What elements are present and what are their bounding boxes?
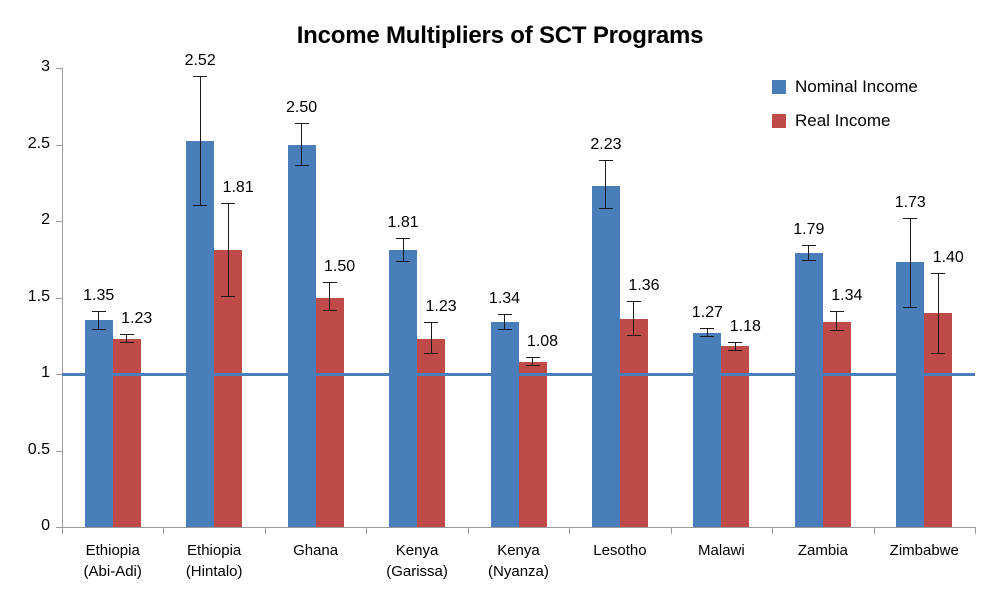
category-label-4: Kenya(Nyanza) [468,540,569,582]
category-label-0: Ethiopia(Abi-Adi) [62,540,163,582]
error-bar-real-7 [830,311,844,331]
bar-real-4[interactable] [519,362,547,527]
y-tick-label-1: 1 [4,364,50,382]
category-label-6: Malawi [671,540,772,561]
data-label-nominal-5: 2.23 [578,136,634,154]
data-label-nominal-1: 2.52 [172,52,228,70]
bar-real-3[interactable] [417,339,445,527]
error-bar-real-6 [728,342,742,351]
y-tick-label-0.5: 0.5 [4,441,50,459]
data-label-real-7: 1.34 [819,287,875,305]
y-tick-label-3: 3 [4,58,50,76]
bar-real-5[interactable] [620,319,648,527]
data-label-real-1: 1.81 [210,179,266,197]
x-tick-5 [569,527,570,534]
x-tick-1 [163,527,164,534]
x-axis-line [62,527,975,528]
plot-area: 00.511.522.53 1.352.522.501.811.342.231.… [62,68,975,527]
y-tick-label-0: 0 [4,517,50,535]
data-label-real-6: 1.18 [717,318,773,336]
x-tick-9 [975,527,976,534]
error-bar-nominal-3 [396,238,410,262]
y-axis-line [62,68,63,527]
bar-nominal-0[interactable] [85,320,113,527]
bar-real-0[interactable] [113,339,141,527]
data-label-nominal-2: 2.50 [274,99,330,117]
error-bar-nominal-8 [903,218,917,308]
x-tick-8 [874,527,875,534]
data-label-nominal-4: 1.34 [477,290,533,308]
category-label-7: Zambia [772,540,873,561]
data-label-real-4: 1.08 [515,333,571,351]
y-tick-1.5 [56,298,62,299]
data-label-real-2: 1.50 [312,258,368,276]
data-label-nominal-7: 1.79 [781,221,837,239]
bar-nominal-2[interactable] [288,145,316,528]
category-label-2: Ghana [265,540,366,561]
y-tick-0.5 [56,451,62,452]
error-bar-real-0 [120,334,134,343]
error-bar-nominal-5 [599,160,613,209]
error-bar-real-5 [627,301,641,336]
y-tick-3 [56,68,62,69]
category-label-8: Zimbabwe [874,540,975,561]
x-tick-2 [265,527,266,534]
bar-nominal-3[interactable] [389,250,417,527]
error-bar-real-2 [323,282,337,311]
category-label-5: Lesotho [569,540,670,561]
data-label-nominal-3: 1.81 [375,214,431,232]
error-bar-nominal-6 [700,328,714,337]
data-label-nominal-8: 1.73 [882,194,938,212]
y-tick-label-1.5: 1.5 [4,288,50,306]
bar-nominal-5[interactable] [592,186,620,527]
error-bar-real-1 [221,203,235,298]
y-tick-2.5 [56,145,62,146]
bar-real-2[interactable] [316,298,344,528]
error-bar-nominal-0 [92,311,106,329]
category-label-3: Kenya(Garissa) [366,540,467,582]
bar-real-7[interactable] [823,322,851,527]
y-tick-label-2: 2 [4,211,50,229]
bar-nominal-4[interactable] [491,322,519,527]
error-bar-nominal-1 [193,76,207,206]
data-label-real-3: 1.23 [413,298,469,316]
bar-nominal-6[interactable] [693,333,721,527]
chart-container: Income Multipliers of SCT Programs Nomin… [0,0,1000,600]
y-tick-2 [56,221,62,222]
error-bar-real-4 [526,357,540,366]
category-label-1: Ethiopia(Hintalo) [163,540,264,582]
error-bar-nominal-2 [295,123,309,166]
data-label-real-8: 1.40 [920,249,976,267]
error-bar-real-3 [424,322,438,354]
x-tick-3 [366,527,367,534]
error-bar-nominal-4 [498,314,512,329]
chart-title: Income Multipliers of SCT Programs [0,22,1000,50]
data-label-real-0: 1.23 [109,310,165,328]
x-tick-0 [62,527,63,534]
x-tick-4 [468,527,469,534]
x-tick-7 [772,527,773,534]
data-label-real-5: 1.36 [616,277,672,295]
data-label-nominal-0: 1.35 [71,287,127,305]
y-tick-label-2.5: 2.5 [4,135,50,153]
x-tick-6 [671,527,672,534]
error-bar-real-8 [931,273,945,354]
reference-line-at-one [62,373,975,376]
error-bar-nominal-7 [802,245,816,260]
